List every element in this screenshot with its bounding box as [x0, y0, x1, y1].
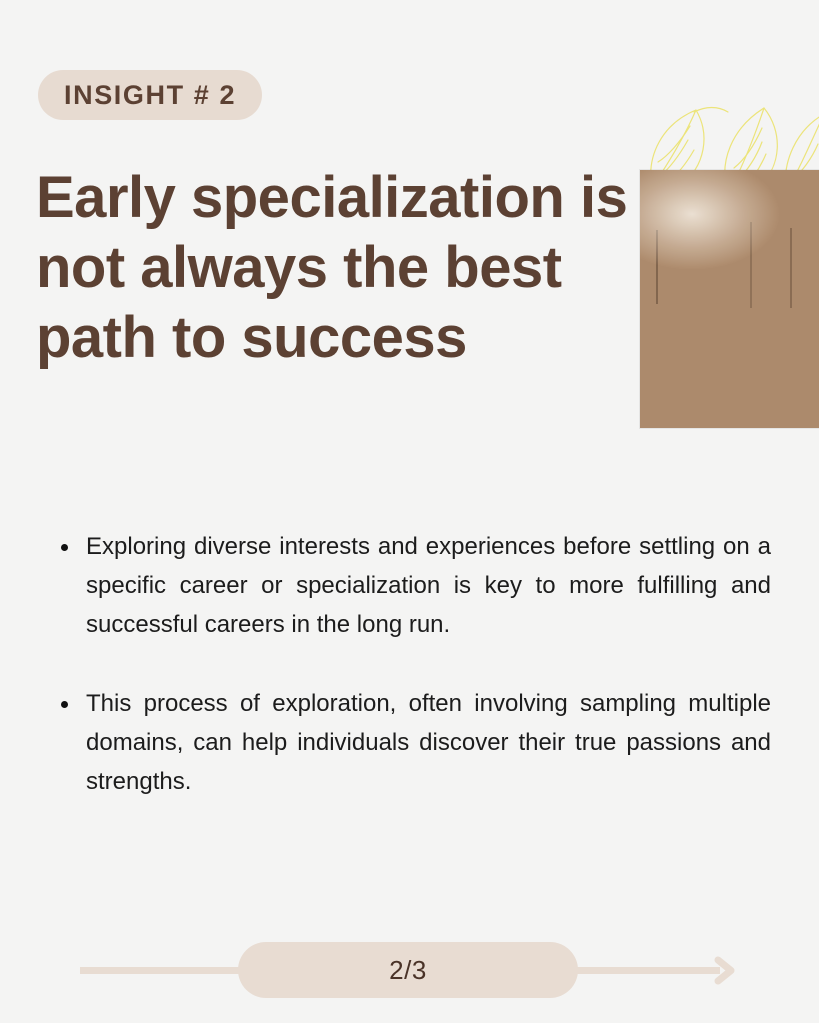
list-item: Exploring diverse interests and experien…: [55, 527, 771, 644]
insight-bullet-list: Exploring diverse interests and experien…: [55, 527, 771, 801]
arrow-right-icon[interactable]: [706, 954, 739, 987]
page-title: Early specialization is not always the b…: [36, 163, 636, 373]
list-item: This process of exploration, often invol…: [55, 684, 771, 801]
insight-badge-label: INSIGHT # 2: [64, 80, 236, 111]
boardwalk-photo: [640, 170, 819, 428]
boardwalk-photo-image: [640, 170, 819, 428]
bullet-dot-icon: [61, 701, 68, 708]
progress-track-right: [566, 967, 720, 974]
slide-canvas: INSIGHT # 2 Early specialization is not …: [0, 0, 819, 1023]
progress-track-left: [80, 967, 252, 974]
page-indicator-pill[interactable]: 2/3: [238, 942, 578, 998]
list-item-text: This process of exploration, often invol…: [86, 690, 771, 795]
page-indicator-label: 2/3: [389, 955, 427, 986]
pagination-footer: 2/3: [0, 942, 819, 998]
bullet-dot-icon: [61, 544, 68, 551]
list-item-text: Exploring diverse interests and experien…: [86, 533, 771, 638]
insight-badge: INSIGHT # 2: [38, 70, 262, 120]
